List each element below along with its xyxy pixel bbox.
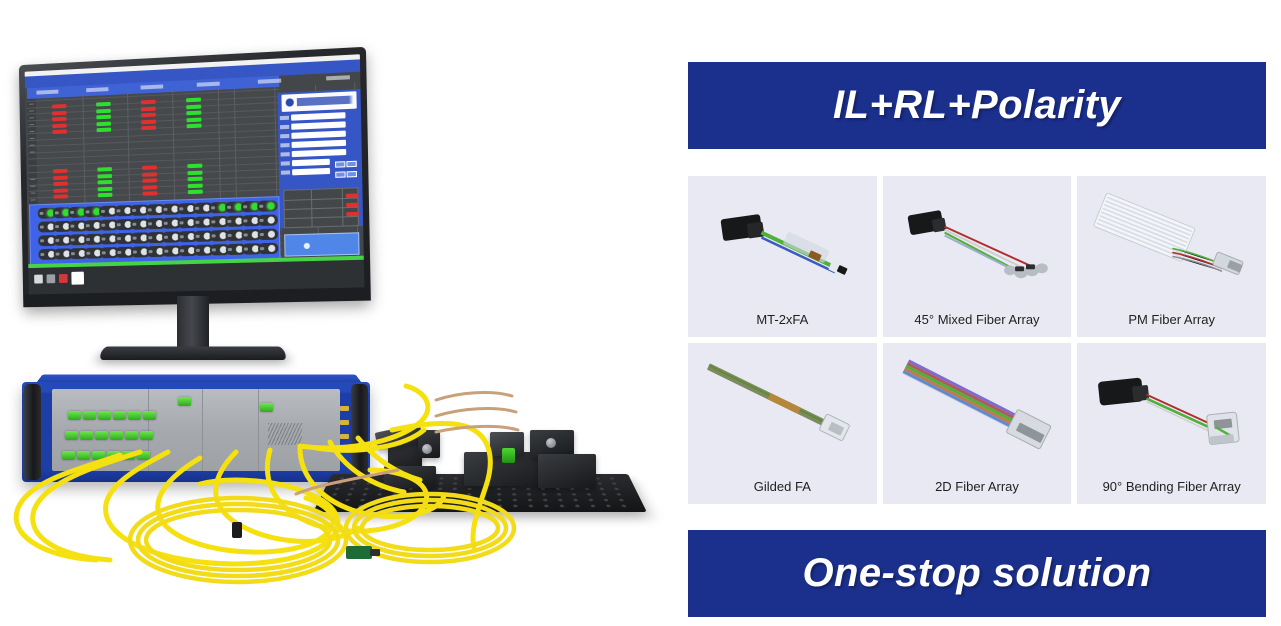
adjustment-knob-right — [546, 438, 556, 448]
stage-base-right — [538, 454, 596, 488]
product-cell[interactable]: 45° Mixed Fiber Array — [883, 176, 1072, 337]
measurement-value — [187, 170, 202, 175]
bending-fiber-array-90deg-image — [1077, 343, 1266, 474]
measurement-value — [188, 177, 203, 182]
channel-led-icon — [268, 231, 275, 238]
fiber-connector-port — [125, 431, 138, 440]
measurement-value — [53, 188, 67, 192]
result-tag — [346, 203, 359, 207]
product-cell[interactable]: 2D Fiber Array — [883, 343, 1072, 504]
measurement-value — [97, 167, 112, 172]
channel-indicator[interactable] — [257, 200, 277, 212]
measurement-value — [96, 121, 111, 126]
measurement-value — [141, 113, 156, 118]
measurement-value — [141, 106, 156, 111]
measurement-value — [142, 172, 157, 177]
measurement-value — [143, 192, 158, 196]
measurement-value — [52, 117, 66, 122]
product-label: 45° Mixed Fiber Array — [914, 313, 1039, 337]
measurement-value — [52, 130, 66, 135]
fiber-connector-port — [77, 451, 90, 460]
result-tag — [346, 193, 359, 198]
form-button[interactable] — [335, 161, 345, 167]
form-input[interactable] — [292, 159, 330, 167]
product-grid: MT-2xFA 45° Mixed Fiber Array — [688, 176, 1266, 504]
logo-wordmark — [297, 95, 354, 106]
fiber-connector-port — [110, 431, 123, 440]
gilded-fiber-array-image — [688, 343, 877, 474]
channel-led-icon — [268, 216, 275, 223]
form-label — [280, 125, 289, 129]
fiber-connector-port — [62, 451, 75, 460]
banner-bottom: One-stop solution — [688, 530, 1266, 617]
status-icon-4 — [71, 272, 84, 285]
fiber-connector-port — [140, 431, 153, 440]
channel-led-icon — [267, 202, 274, 209]
channel-indicator[interactable] — [258, 243, 278, 255]
chassis-front-panel — [52, 389, 340, 471]
measurement-value — [187, 164, 202, 169]
mt-2x-fiber-array-image — [688, 176, 877, 307]
monitor — [19, 47, 371, 308]
status-icon-2 — [47, 274, 56, 283]
product-label: MT-2xFA — [756, 313, 808, 337]
product-cell[interactable]: Gilded FA — [688, 343, 877, 504]
form-label — [280, 116, 289, 120]
fiber-connector-port — [137, 451, 150, 460]
measurement-value — [54, 195, 68, 199]
measurement-value — [52, 110, 66, 115]
measurement-value — [98, 180, 113, 184]
measurement-value — [96, 115, 111, 120]
product-cell[interactable]: MT-2xFA — [688, 176, 877, 337]
results-grid — [283, 187, 359, 228]
measurement-value — [186, 111, 201, 116]
banner-top-text: IL+RL+Polarity — [833, 83, 1121, 128]
equipment-photo — [0, 0, 686, 626]
measurement-value — [53, 169, 67, 173]
product-label: PM Fiber Array — [1128, 313, 1215, 337]
measurement-value — [96, 102, 111, 107]
banner-top: IL+RL+Polarity — [688, 62, 1266, 149]
form-input[interactable] — [291, 131, 346, 139]
result-tag — [346, 212, 359, 216]
measurement-value — [96, 108, 111, 113]
electrical-connector — [340, 420, 349, 425]
test-instrument-chassis — [22, 360, 370, 490]
electrical-connector — [340, 406, 349, 411]
marketing-panel: IL+RL+Polarity MT-2xFA 45° M — [688, 0, 1266, 626]
measurement-value — [98, 187, 113, 191]
fiber-connector-port — [65, 431, 78, 440]
measurement-value — [142, 178, 157, 183]
fiber-connector-port — [83, 411, 96, 420]
measurement-value — [186, 117, 201, 122]
ventilation-grille — [268, 423, 302, 445]
measurement-value — [186, 98, 201, 103]
form-input[interactable] — [292, 168, 330, 176]
measurement-value — [187, 124, 202, 129]
channel-led-icon — [268, 245, 275, 252]
measurement-value — [97, 128, 112, 133]
pm-fiber-array-image — [1077, 176, 1266, 307]
optical-alignment-bench — [332, 428, 628, 544]
fiber-connector-port — [178, 397, 191, 406]
measurement-value — [141, 100, 156, 105]
measurement-value — [142, 165, 157, 170]
form-label — [280, 134, 289, 138]
measurement-value — [186, 104, 201, 109]
measurement-value — [52, 123, 66, 128]
form-input[interactable] — [291, 121, 346, 129]
channel-led-panel — [29, 196, 280, 265]
software-logo — [281, 91, 356, 112]
measurement-value — [141, 126, 156, 131]
banner-bottom-text: One-stop solution — [803, 551, 1152, 596]
fiber-connector-port — [95, 431, 108, 440]
measurement-value — [98, 193, 113, 197]
monitor-bezel — [19, 47, 371, 308]
fiber-connector-port — [143, 411, 156, 420]
measurement-value — [188, 183, 203, 188]
product-cell[interactable]: 90° Bending Fiber Array — [1077, 343, 1266, 504]
mixed-fiber-array-45deg-image — [883, 176, 1072, 307]
form-input[interactable] — [291, 140, 346, 148]
measurement-value — [142, 185, 157, 189]
measurement-value — [188, 190, 203, 195]
fiber-connector-port — [68, 411, 81, 420]
form-label — [281, 152, 290, 156]
rack-handle-left — [24, 384, 41, 480]
form-input[interactable] — [292, 149, 347, 157]
form-button[interactable] — [347, 161, 357, 168]
monitor-stand-neck — [177, 296, 209, 350]
form-button[interactable] — [347, 171, 357, 177]
chassis-body — [22, 382, 370, 482]
adjustment-knob-left — [422, 444, 432, 454]
fiber-connector-port — [128, 411, 141, 420]
form-label — [281, 143, 290, 147]
logo-mark-icon — [285, 98, 293, 106]
form-label — [281, 161, 290, 165]
monitor-screen — [25, 54, 365, 294]
status-icon-1 — [34, 275, 43, 284]
product-cell[interactable]: PM Fiber Array — [1077, 176, 1266, 337]
product-label: Gilded FA — [754, 480, 811, 504]
status-icon-3 — [59, 274, 68, 283]
measurement-value — [53, 175, 67, 179]
fiber-connector-port — [122, 451, 135, 460]
green-connector — [502, 448, 515, 463]
form-button[interactable] — [335, 171, 345, 177]
form-label — [281, 170, 290, 174]
measurement-value — [141, 119, 156, 124]
channel-indicator[interactable] — [258, 228, 278, 240]
2d-fiber-array-image — [883, 343, 1072, 474]
fiber-connector-port — [80, 431, 93, 440]
fiber-connector-port — [113, 411, 126, 420]
fiber-connector-port — [260, 403, 273, 412]
product-label: 2D Fiber Array — [935, 480, 1019, 504]
fiber-connector-port — [98, 411, 111, 420]
measurement-value — [52, 104, 66, 109]
fiber-connector-port — [92, 451, 105, 460]
product-label: 90° Bending Fiber Array — [1103, 480, 1241, 504]
form-input[interactable] — [291, 112, 346, 121]
measurement-value — [53, 182, 67, 186]
channel-indicator[interactable] — [257, 214, 277, 226]
measurement-value — [97, 174, 112, 178]
monitor-stand-base — [98, 346, 287, 360]
action-panel[interactable] — [284, 232, 360, 256]
software-sidebar — [277, 89, 363, 228]
promo-layout: IL+RL+Polarity MT-2xFA 45° M — [0, 0, 1281, 626]
stage-base-left — [384, 466, 436, 488]
fiber-connector-port — [107, 451, 120, 460]
